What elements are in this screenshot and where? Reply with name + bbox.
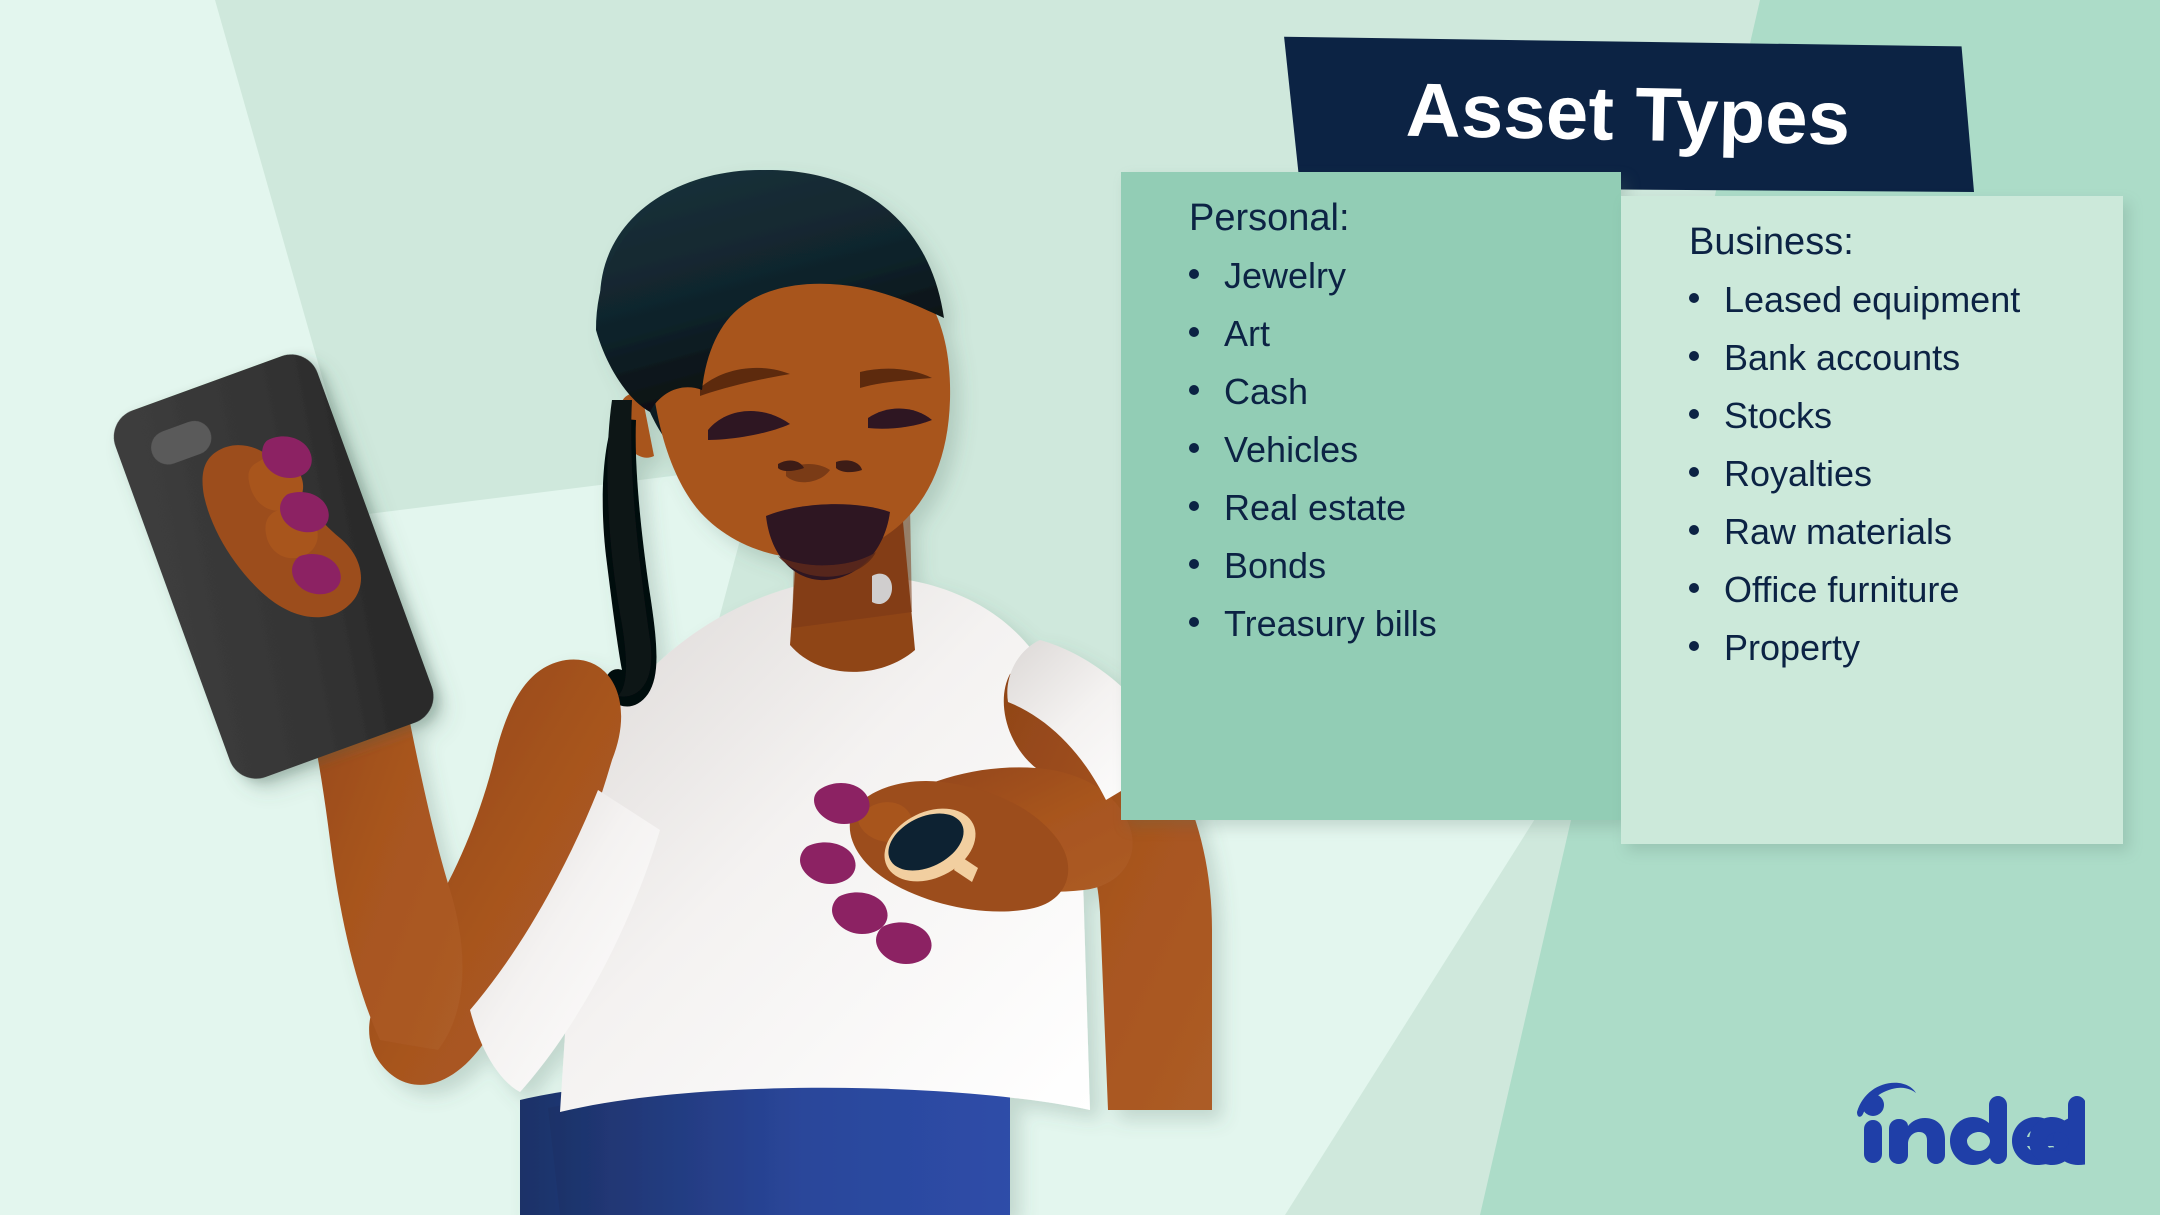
figure-group: [106, 170, 1212, 1215]
bullet-icon: [1189, 443, 1199, 453]
list-item: Treasury bills: [1189, 606, 1621, 642]
bullet-icon: [1689, 525, 1699, 535]
list-item-label: Property: [1724, 630, 1860, 666]
list-item: Real estate: [1189, 490, 1621, 526]
list-item-label: Treasury bills: [1224, 606, 1437, 642]
list-item: Office furniture: [1689, 572, 2123, 608]
list-item: Art: [1189, 316, 1621, 352]
infographic-canvas: Asset Types Personal: Jewelry Art Cash V…: [0, 0, 2160, 1215]
list-item-label: Office furniture: [1724, 572, 1959, 608]
bullet-icon: [1189, 269, 1199, 279]
bullet-icon: [1689, 641, 1699, 651]
panel-business-list: Leased equipment Bank accounts Stocks Ro…: [1621, 282, 2123, 666]
page-title: Asset Types: [1405, 66, 1851, 162]
list-item-label: Raw materials: [1724, 514, 1952, 550]
panel-personal-list: Jewelry Art Cash Vehicles Real estate Bo…: [1121, 258, 1621, 642]
bullet-icon: [1689, 293, 1699, 303]
indeed-letter-d2: [2029, 1096, 2085, 1165]
panel-business-heading: Business:: [1689, 222, 2123, 264]
list-item: Royalties: [1689, 456, 2123, 492]
bullet-icon: [1189, 501, 1199, 511]
list-item-label: Jewelry: [1224, 258, 1346, 294]
list-item: Property: [1689, 630, 2123, 666]
bullet-icon: [1189, 327, 1199, 337]
list-item-label: Bonds: [1224, 548, 1326, 584]
skirt-waist: [548, 1081, 1010, 1215]
list-item: Bonds: [1189, 548, 1621, 584]
panel-business: Business: Leased equipment Bank accounts…: [1621, 196, 2123, 844]
bullet-icon: [1689, 583, 1699, 593]
panel-personal: Personal: Jewelry Art Cash Vehicles Real…: [1121, 172, 1621, 820]
list-item: Jewelry: [1189, 258, 1621, 294]
title-banner: Asset Types: [1282, 32, 1974, 192]
bullet-icon: [1189, 559, 1199, 569]
indeed-logo: [1855, 1080, 2085, 1170]
list-item-label: Bank accounts: [1724, 340, 1960, 376]
list-item: Stocks: [1689, 398, 2123, 434]
bullet-icon: [1189, 385, 1199, 395]
indeed-letter-d1: [1950, 1096, 2007, 1165]
list-item: Raw materials: [1689, 514, 2123, 550]
list-item: Cash: [1189, 374, 1621, 410]
bullet-icon: [1689, 467, 1699, 477]
list-item-label: Leased equipment: [1724, 282, 2020, 318]
list-item: Vehicles: [1189, 432, 1621, 468]
bullet-icon: [1189, 617, 1199, 627]
list-item-label: Stocks: [1724, 398, 1832, 434]
list-item: Bank accounts: [1689, 340, 2123, 376]
list-item: Leased equipment: [1689, 282, 2123, 318]
indeed-i-dot: [1862, 1094, 1884, 1116]
list-item-label: Art: [1224, 316, 1270, 352]
list-item-label: Vehicles: [1224, 432, 1358, 468]
bullet-icon: [1689, 351, 1699, 361]
panel-personal-heading: Personal:: [1189, 198, 1621, 240]
indeed-letter-i: [1864, 1120, 1882, 1163]
indeed-letter-n: [1889, 1118, 1945, 1164]
list-item-label: Cash: [1224, 374, 1308, 410]
list-item-label: Real estate: [1224, 490, 1406, 526]
bullet-icon: [1689, 409, 1699, 419]
list-item-label: Royalties: [1724, 456, 1872, 492]
